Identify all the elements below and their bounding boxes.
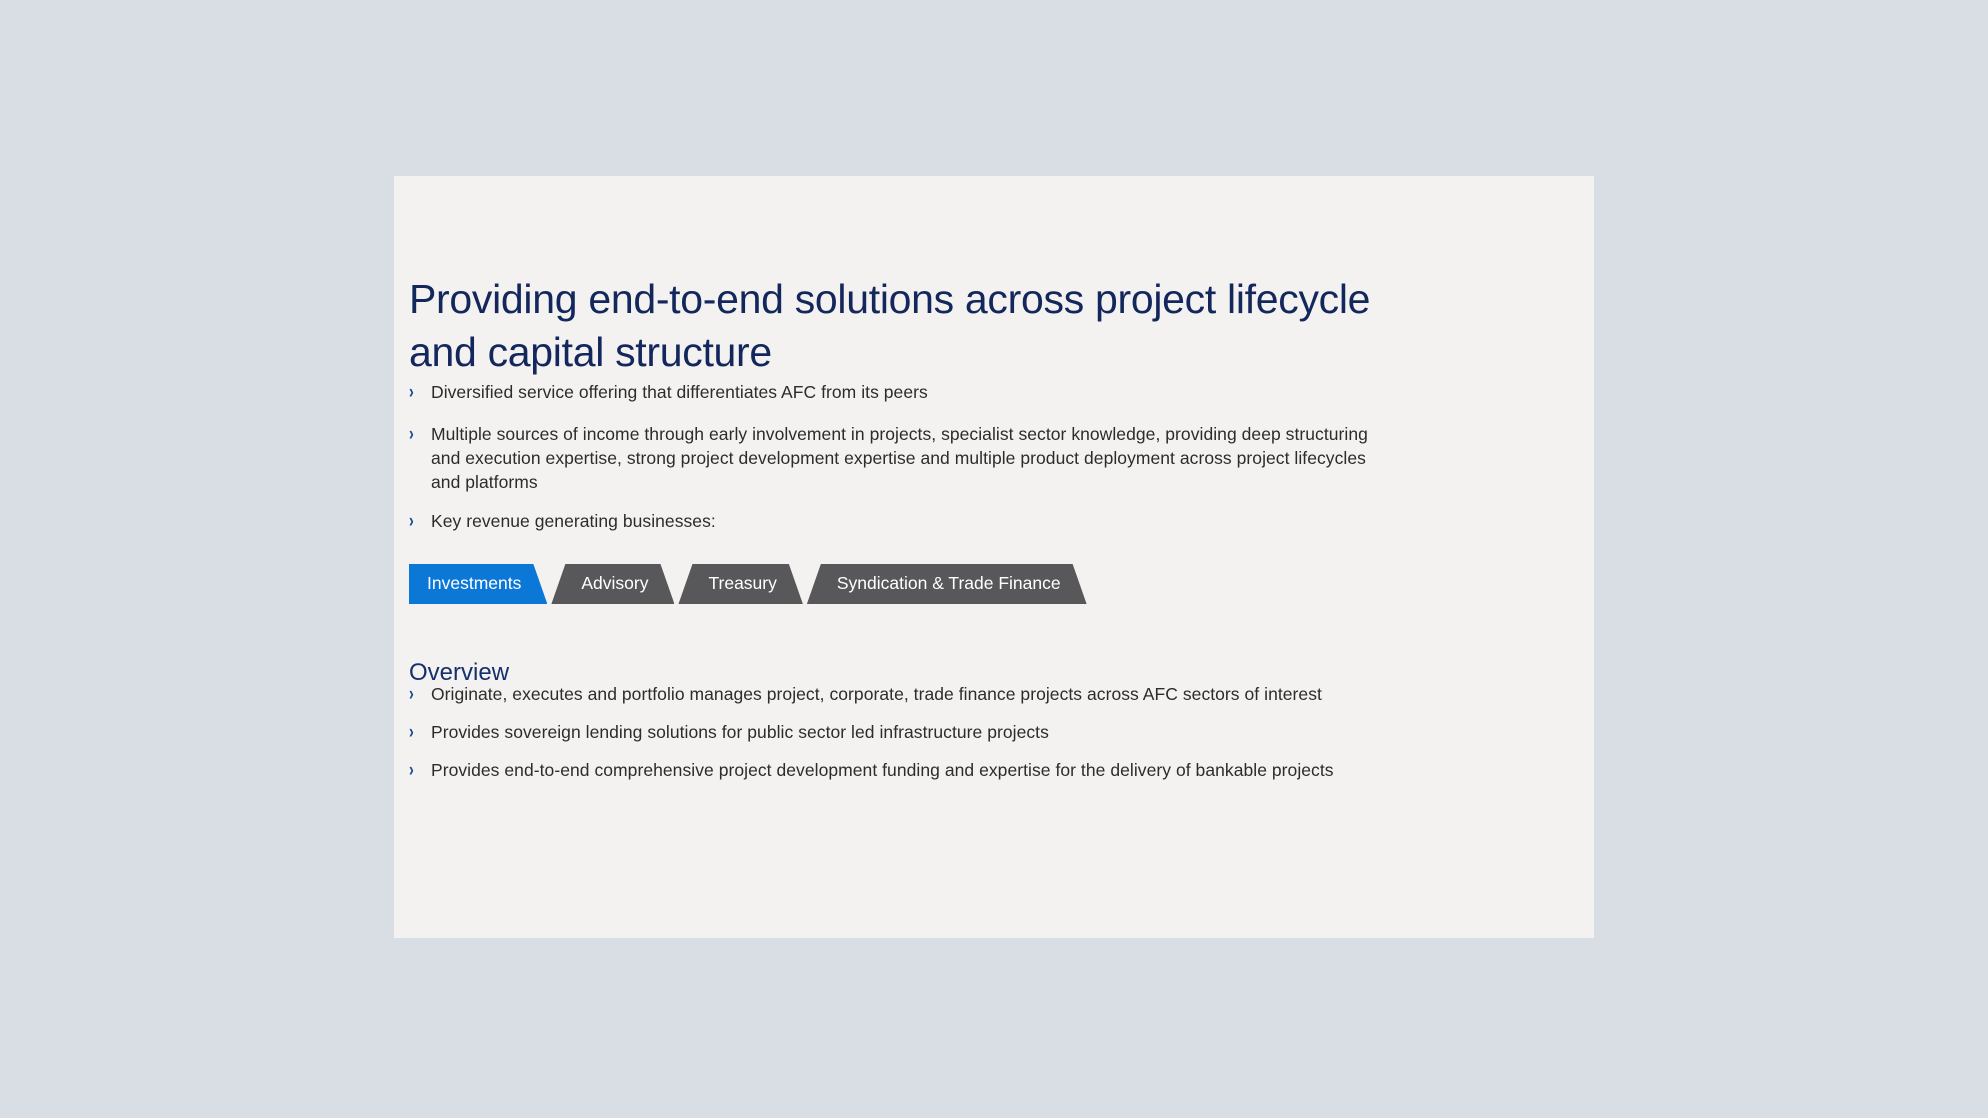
tab-investments[interactable]: Investments [409,564,547,604]
list-item: › Key revenue generating businesses: [409,509,1399,534]
list-item: › Originate, executes and portfolio mana… [409,682,1439,707]
list-item-label: Key revenue generating businesses: [431,509,1399,533]
list-item: › Multiple sources of income through ear… [409,422,1399,494]
list-item: › Diversified service offering that diff… [409,380,1399,405]
tab-syndication-trade-finance-label: Syndication & Trade Finance [837,575,1061,593]
list-item-label: Diversified service offering that differ… [431,380,1399,404]
list-item-label: Multiple sources of income through early… [431,422,1399,494]
business-tab-strip: Investments Advisory Treasury Syndicatio… [409,564,1091,604]
page-title: Providing end-to-end solutions across pr… [409,273,1409,379]
tab-investments-label: Investments [427,575,521,593]
list-item: › Provides sovereign lending solutions f… [409,720,1439,745]
chevron-right-icon: › [409,509,426,534]
screenshot-stage: Providing end-to-end solutions across pr… [0,0,1988,1118]
tab-syndication-trade-finance[interactable]: Syndication & Trade Finance [807,564,1087,604]
list-item-label: Provides sovereign lending solutions for… [431,720,1439,744]
chevron-right-icon: › [409,758,426,783]
intro-bullet-list: › Diversified service offering that diff… [409,380,1399,534]
tab-treasury[interactable]: Treasury [678,564,802,604]
list-item: › Provides end-to-end comprehensive proj… [409,758,1439,783]
list-item-label: Provides end-to-end comprehensive projec… [431,758,1439,782]
tab-advisory-label: Advisory [581,575,648,593]
chevron-right-icon: › [409,682,426,707]
slide-content: Providing end-to-end solutions across pr… [394,176,1594,938]
overview-bullet-list: › Originate, executes and portfolio mana… [409,682,1439,783]
list-item-label: Originate, executes and portfolio manage… [431,682,1439,706]
tab-advisory[interactable]: Advisory [551,564,674,604]
chevron-right-icon: › [409,720,426,745]
chevron-right-icon: › [409,422,426,447]
chevron-right-icon: › [409,380,426,405]
slide-card: Providing end-to-end solutions across pr… [394,176,1594,938]
tab-treasury-label: Treasury [708,575,776,593]
